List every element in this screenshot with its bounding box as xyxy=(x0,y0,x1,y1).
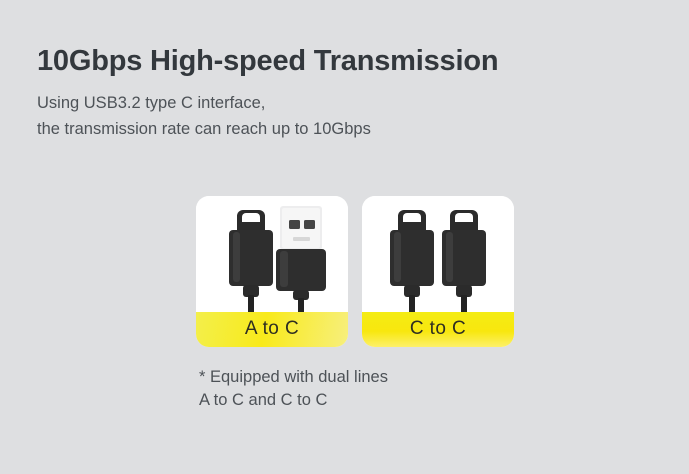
footnote-block: * Equipped with dual lines A to C and C … xyxy=(199,366,388,412)
page-title: 10Gbps High-speed Transmission xyxy=(37,45,498,78)
footnote-line-2: A to C and C to C xyxy=(199,389,388,412)
cable-card-group: A to C xyxy=(196,196,514,347)
card-image-area xyxy=(362,196,514,312)
footnote-line-1: * Equipped with dual lines xyxy=(199,366,388,389)
card-label-text: C to C xyxy=(410,319,466,340)
cable-card-c-to-c[interactable]: C to C xyxy=(362,196,514,347)
promo-panel: 10Gbps High-speed Transmission Using USB… xyxy=(0,0,689,474)
subtitle-line-2: the transmission rate can reach up to 10… xyxy=(37,116,371,142)
card-label-band: C to C xyxy=(362,312,514,347)
card-image-area xyxy=(196,196,348,312)
usb-c-connector-left xyxy=(390,210,434,312)
subtitle-block: Using USB3.2 type C interface, the trans… xyxy=(37,90,371,142)
card-label-text: A to C xyxy=(245,319,299,340)
subtitle-line-1: Using USB3.2 type C interface, xyxy=(37,90,371,116)
usb-a-connector-right xyxy=(276,206,326,312)
usb-c-to-c-cable-illustration xyxy=(362,196,514,312)
usb-c-connector-right xyxy=(442,210,486,312)
usb-a-to-c-cable-illustration xyxy=(196,196,348,312)
cable-card-a-to-c[interactable]: A to C xyxy=(196,196,348,347)
usb-c-connector-left xyxy=(229,210,273,312)
card-label-band: A to C xyxy=(196,312,348,347)
